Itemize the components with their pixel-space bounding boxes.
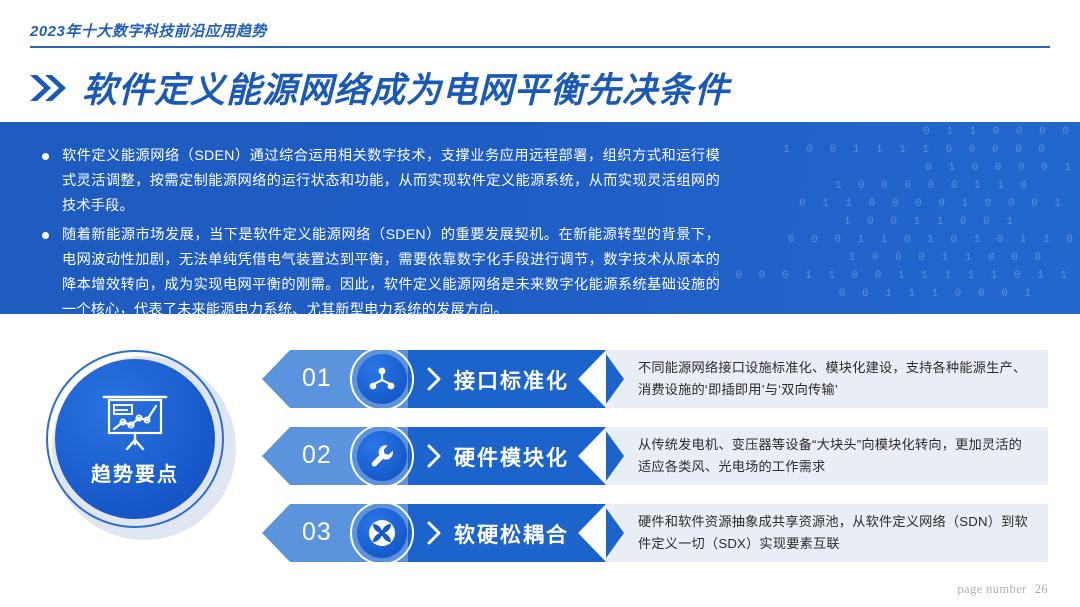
double-chevron-right-icon (28, 71, 68, 105)
page-title: 软件定义能源网络成为电网平衡先决条件 (82, 62, 730, 113)
trend-icon-core (357, 431, 407, 481)
trend-points-section: 趋势要点 01 (0, 330, 1080, 580)
chevron-right-icon (426, 366, 442, 392)
globe-rotation-icon (366, 517, 398, 549)
trend-icon-core (357, 508, 407, 558)
slide-header: 2023年十大数字科技前沿应用趋势 软件定义能源网络成为电网平衡先决条件 (0, 0, 1080, 120)
bullet-text: 随着新能源市场发展，当下是软件定义能源网络（SDEN）的重要发展契机。在新能源转… (62, 223, 720, 314)
description-notch-arrow (606, 350, 636, 408)
trend-description-panel: 硬件和软件资源抽象成共享资源池，从软件定义网络（SDN）到软件定义一切（SDX）… (606, 504, 1048, 562)
chevron-right-icon (426, 520, 442, 546)
badge-core: 趋势要点 (55, 359, 215, 519)
header-kicker: 2023年十大数字科技前沿应用趋势 (30, 20, 267, 41)
trend-icon-badge (350, 347, 414, 411)
footer-label: page number (957, 582, 1026, 596)
trend-row[interactable]: 01 接口标准化 (258, 350, 1048, 408)
trend-points-badge: 趋势要点 (46, 350, 236, 540)
trend-number: 02 (302, 441, 332, 470)
wrench-icon (367, 441, 397, 471)
trend-number: 03 (302, 518, 332, 547)
trend-title: 接口标准化 (454, 365, 569, 395)
page-title-row: 软件定义能源网络成为电网平衡先决条件 (28, 62, 730, 113)
description-notch-arrow (606, 504, 636, 562)
bullet-list: 软件定义能源网络（SDEN）通过综合运用相关数字技术，支撑业务应用远程部署，组织… (0, 122, 1080, 314)
trend-description: 不同能源网络接口设施标准化、模块化建设，支持各种能源生产、消费设施的‘即插即用’… (638, 357, 1034, 401)
trend-title: 硬件模块化 (454, 442, 569, 472)
presentation-chart-icon (98, 392, 172, 454)
bullet-item: 软件定义能源网络（SDEN）通过综合运用相关数字技术，支撑业务应用远程部署，组织… (42, 144, 720, 219)
trend-icon-core (357, 354, 407, 404)
slide: 2023年十大数字科技前沿应用趋势 软件定义能源网络成为电网平衡先决条件 0 1… (0, 0, 1080, 607)
bullet-text: 软件定义能源网络（SDEN）通过综合运用相关数字技术，支撑业务应用远程部署，组织… (62, 144, 720, 219)
trend-description: 从传统发电机、变压器等设备“大块头”向模块化转向，更加灵活的适应各类风、光电场的… (638, 434, 1034, 478)
trend-row[interactable]: 03 软硬松耦合 (258, 504, 1048, 562)
trend-row[interactable]: 02 硬件模块化 从传统发电机、变压器等设备“大块头”向模块化转向，更加灵活的适… (258, 427, 1048, 485)
bullet-dot-icon (42, 153, 49, 160)
trend-icon-badge (350, 424, 414, 488)
chevron-right-icon (426, 443, 442, 469)
header-divider (30, 46, 1050, 48)
trend-description-panel: 不同能源网络接口设施标准化、模块化建设，支持各种能源生产、消费设施的‘即插即用’… (606, 350, 1048, 408)
page-number: 26 (1035, 582, 1048, 596)
bullet-item: 随着新能源市场发展，当下是软件定义能源网络（SDEN）的重要发展契机。在新能源转… (42, 223, 720, 314)
network-share-icon (367, 364, 397, 394)
summary-panel: 0 1 1 0 0 0 0 1 0 0 1 1 1 1 0 0 0 0 0 0 … (0, 122, 1080, 314)
trend-icon-badge (350, 501, 414, 565)
description-notch-arrow (606, 427, 636, 485)
footer: page number26 (957, 582, 1048, 597)
trend-description: 硬件和软件资源抽象成共享资源池，从软件定义网络（SDN）到软件定义一切（SDX）… (638, 511, 1034, 555)
bullet-dot-icon (42, 232, 49, 239)
trend-description-panel: 从传统发电机、变压器等设备“大块头”向模块化转向，更加灵活的适应各类风、光电场的… (606, 427, 1048, 485)
trend-title: 软硬松耦合 (454, 519, 569, 549)
badge-label: 趋势要点 (91, 458, 179, 487)
trend-number: 01 (302, 364, 332, 393)
